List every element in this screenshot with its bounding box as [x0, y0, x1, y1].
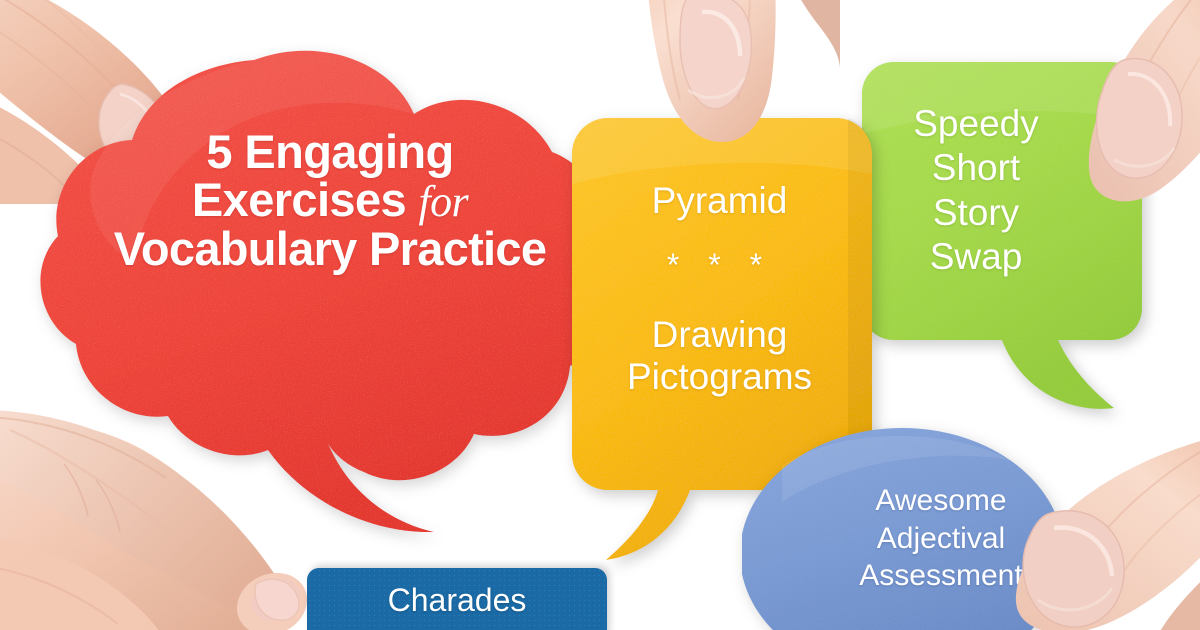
yellow-separator-asterisks: * * * [572, 247, 867, 284]
title-line-2-italic: for [419, 177, 469, 226]
title-line-3: Vocabulary Practice [60, 225, 600, 273]
title-line-2-main: Exercises [192, 173, 406, 226]
red-cloud-bubble [18, 42, 628, 532]
yellow-exercise-2-line-2: Pictograms [572, 356, 867, 397]
title-line-2: Exercises for [60, 176, 600, 225]
green-bubble-text: Speedy Short Story Swap [866, 102, 1086, 280]
green-line-1: Speedy [866, 102, 1086, 146]
navy-card: Charades [307, 568, 607, 630]
green-line-3: Story [866, 191, 1086, 235]
navy-card-label: Charades [307, 582, 607, 619]
page-title: 5 Engaging Exercises for Vocabulary Prac… [60, 128, 600, 273]
blue-line-2: Adjectival [846, 520, 1036, 558]
title-line-1: 5 Engaging [60, 128, 600, 176]
green-line-4: Swap [866, 235, 1086, 279]
blue-line-1: Awesome [846, 482, 1036, 520]
yellow-exercise-1: Pyramid [572, 180, 867, 221]
blue-line-3: Assessment [846, 557, 1036, 595]
poster-canvas: 5 Engaging Exercises for Vocabulary Prac… [0, 0, 1200, 630]
blue-bubble-text: Awesome Adjectival Assessment [846, 482, 1036, 595]
yellow-bubble-text: Pyramid * * * Drawing Pictograms [572, 180, 867, 397]
yellow-exercise-2-line-1: Drawing [572, 314, 867, 355]
green-line-2: Short [866, 146, 1086, 190]
